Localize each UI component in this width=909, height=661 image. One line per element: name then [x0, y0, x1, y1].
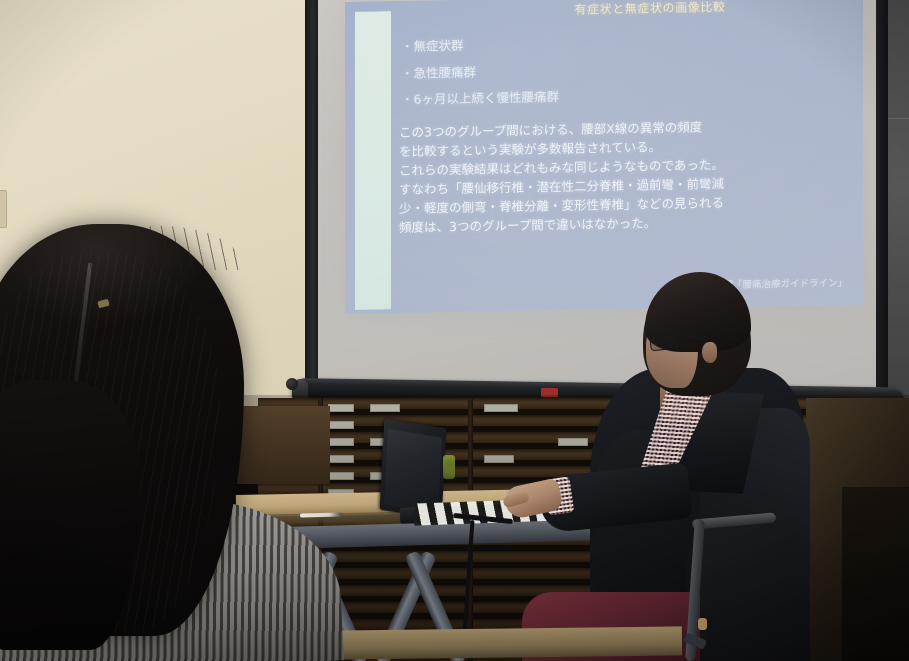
- cabinet-drawer-label: [328, 421, 354, 429]
- presenter-ear: [702, 342, 717, 363]
- slide-bullet-list: 無症状群 急性腰痛群 6ヶ月以上続く慢性腰痛群: [401, 33, 831, 120]
- laptop-screen: [384, 429, 442, 513]
- presenter-glasses-lens: [649, 333, 679, 352]
- screen-border-left: [305, 0, 318, 392]
- slide-sidebar-strip: [355, 11, 391, 310]
- cabinet-drawer-label: [370, 404, 400, 412]
- lecture-room-photo: 有症状と無症状の画像比較 無症状群 急性腰痛群 6ヶ月以上続く慢性腰痛群 この3…: [0, 0, 909, 661]
- screen-border-right: [876, 0, 888, 392]
- roller-bar-brand-label: [541, 388, 558, 397]
- cabinet-drawer-label: [328, 404, 354, 412]
- chair-backrest[interactable]: [700, 518, 796, 661]
- slide-bullet-item: 急性腰痛群: [401, 60, 831, 80]
- wall-knob: [286, 378, 298, 390]
- light-switch[interactable]: [0, 190, 7, 228]
- cabinet-side-shadow: [842, 487, 909, 661]
- slide-bullet-item: 無症状群: [401, 33, 831, 53]
- audience-woman-hair-front-fall: [0, 380, 140, 650]
- slide-title: 有症状と無症状の画像比較: [465, 0, 835, 20]
- cabinet-drawer-label: [328, 455, 354, 463]
- cabinet-drawer-label: [558, 438, 588, 446]
- cabinet-drawer-label: [328, 438, 354, 446]
- chair-knob: [698, 618, 707, 630]
- slide-bullet-item: 6ヶ月以上続く慢性腰痛群: [401, 86, 831, 106]
- cabinet-drawer-label: [328, 472, 354, 480]
- green-object-behind-laptop: [443, 455, 455, 479]
- projected-slide: 有症状と無症状の画像比較 無症状群 急性腰痛群 6ヶ月以上続く慢性腰痛群 この3…: [345, 0, 863, 314]
- cabinet-drawer-label: [484, 455, 514, 463]
- cabinet-drawer-label: [484, 404, 518, 412]
- slide-body-text: この3つのグループ間における、腰部X線の異常の頻度 を比較するという実験が多数報…: [399, 115, 849, 237]
